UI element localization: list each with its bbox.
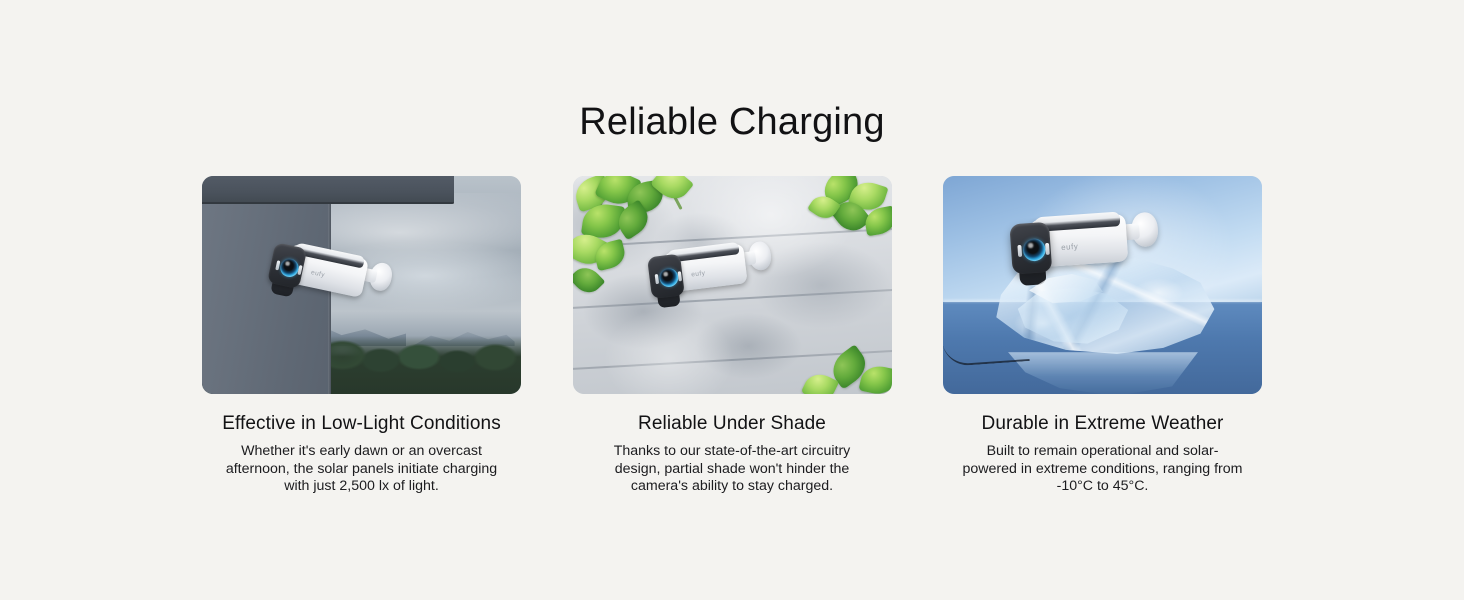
feature-card-list: eufy Effective in Low-Light Conditions W…	[202, 176, 1262, 496]
camera-front-face	[647, 254, 685, 300]
camera-led-left	[654, 274, 658, 284]
card-heading: Durable in Extreme Weather	[943, 411, 1262, 437]
camera-led-right	[297, 265, 302, 275]
feature-card-low-light: eufy Effective in Low-Light Conditions W…	[202, 176, 521, 496]
page-title: Reliable Charging	[0, 96, 1464, 148]
feature-image-low-light: eufy	[202, 176, 521, 394]
feature-card-extreme-weather: eufy Durable in Extreme Weather Built to…	[943, 176, 1262, 496]
camera-led-right	[1045, 243, 1050, 255]
camera-brand-logo: eufy	[1061, 244, 1079, 253]
camera-led-left	[1017, 245, 1022, 257]
camera-front-face	[1009, 222, 1052, 275]
feature-image-shade: eufy	[573, 176, 892, 394]
camera-lens-icon	[1022, 238, 1046, 262]
card-body-text: Whether it's early dawn or an overcast a…	[202, 443, 521, 496]
building-soffit	[202, 176, 454, 204]
card-heading: Effective in Low-Light Conditions	[202, 411, 521, 437]
card-body-text: Thanks to our state-of-the-art circuitry…	[573, 443, 892, 496]
camera-lens-icon	[658, 267, 679, 288]
camera-led-right	[677, 271, 681, 281]
feature-card-shade: eufy Reliable Under Shade Thanks to our …	[573, 176, 892, 496]
card-heading: Reliable Under Shade	[573, 411, 892, 437]
promo-section: Reliable Charging eufy	[0, 0, 1464, 600]
card-body-text: Built to remain operational and solar- p…	[943, 443, 1262, 496]
feature-image-extreme-weather: eufy	[943, 176, 1262, 394]
camera-lens-icon	[279, 257, 301, 279]
